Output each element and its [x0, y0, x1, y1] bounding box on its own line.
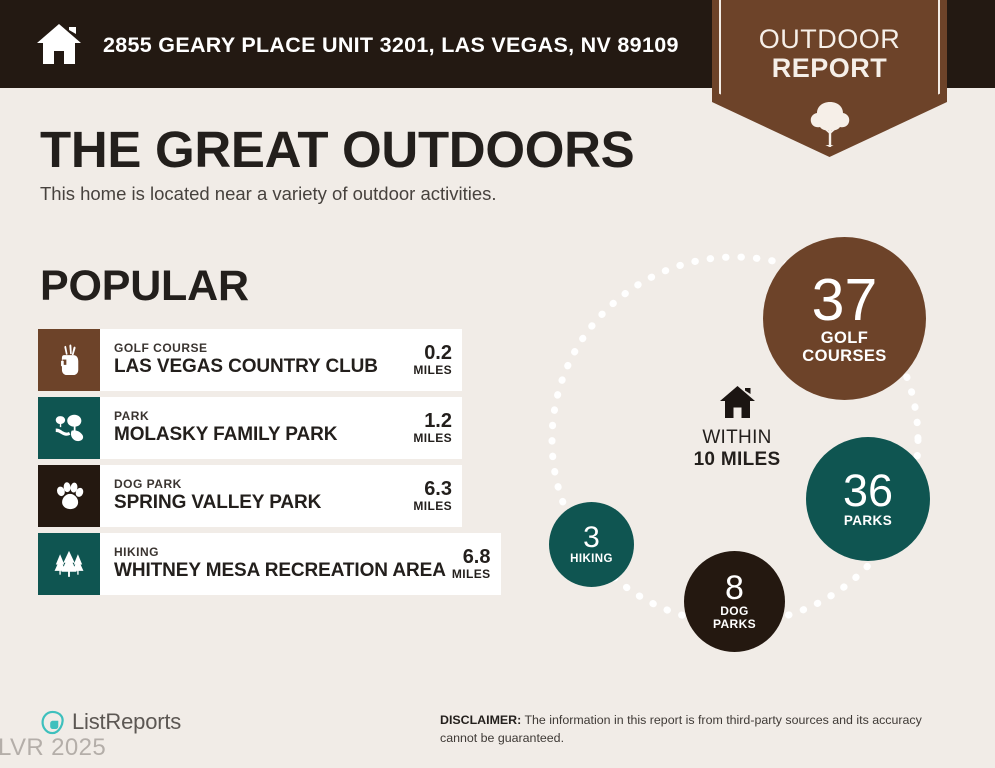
poi-distance-unit: MILES: [413, 364, 452, 377]
poi-distance-value: 6.3: [413, 479, 452, 500]
home-icon: [36, 22, 82, 66]
within-10-miles-bubble-chart: 37 GOLF COURSES 36 PARKS 8 DOG PARKS 3 H…: [520, 225, 960, 665]
poi-category: DOG PARK: [114, 478, 321, 492]
popular-section-heading: POPULAR: [40, 262, 249, 311]
poi-body: HIKING WHITNEY MESA RECREATION AREA 6.8 …: [100, 533, 501, 595]
poi-distance: 1.2 MILES: [407, 411, 452, 445]
list-item[interactable]: GOLF COURSE LAS VEGAS COUNTRY CLUB 0.2 M…: [38, 329, 462, 391]
poi-distance-unit: MILES: [413, 432, 452, 445]
pine-trees-icon: [52, 550, 86, 579]
poi-icon-tile: [38, 533, 100, 595]
paw-print-icon: [54, 481, 85, 512]
page-subtitle: This home is located near a variety of o…: [40, 183, 497, 205]
poi-distance: 6.3 MILES: [407, 479, 452, 513]
listreports-wordmark: ListReports: [72, 709, 181, 735]
listreports-hexagon-icon: [40, 710, 65, 735]
poi-body: GOLF COURSE LAS VEGAS COUNTRY CLUB 0.2 M…: [100, 329, 462, 391]
stat-bubble-dog-parks[interactable]: 8 DOG PARKS: [684, 551, 785, 652]
watermark: LVR 2025: [0, 734, 106, 762]
tree-icon: [807, 100, 853, 148]
poi-category: GOLF COURSE: [114, 342, 378, 356]
stat-value: 8: [725, 572, 744, 604]
poi-name: LAS VEGAS COUNTRY CLUB: [114, 356, 378, 378]
disclaimer-label: DISCLAIMER:: [440, 713, 521, 727]
center-label-line1: WITHIN: [637, 427, 837, 449]
poi-name: WHITNEY MESA RECREATION AREA: [114, 560, 446, 582]
stat-value: 3: [583, 524, 600, 553]
outdoor-report-badge: OUTDOOR REPORT: [712, 0, 947, 157]
poi-icon-tile: [38, 329, 100, 391]
poi-text: HIKING WHITNEY MESA RECREATION AREA: [114, 546, 446, 582]
poi-distance-unit: MILES: [413, 500, 452, 513]
poi-body: DOG PARK SPRING VALLEY PARK 6.3 MILES: [100, 465, 462, 527]
poi-distance-unit: MILES: [452, 568, 491, 581]
badge-title-line2: REPORT: [712, 55, 947, 82]
popular-list: GOLF COURSE LAS VEGAS COUNTRY CLUB 0.2 M…: [38, 329, 462, 601]
list-item[interactable]: HIKING WHITNEY MESA RECREATION AREA 6.8 …: [38, 533, 462, 595]
disclaimer: DISCLAIMER: The information in this repo…: [440, 712, 960, 748]
poi-distance-value: 1.2: [413, 411, 452, 432]
stat-value: 36: [843, 470, 893, 513]
poi-name: MOLASKY FAMILY PARK: [114, 424, 337, 446]
stat-label-line2: COURSES: [802, 348, 886, 366]
poi-icon-tile: [38, 465, 100, 527]
poi-category: PARK: [114, 410, 337, 424]
stat-label-line1: PARKS: [844, 514, 892, 529]
stat-value: 37: [812, 272, 878, 328]
poi-category: HIKING: [114, 546, 446, 560]
poi-body: PARK MOLASKY FAMILY PARK 1.2 MILES: [100, 397, 462, 459]
center-label-line2: 10 MILES: [637, 449, 837, 471]
poi-text: GOLF COURSE LAS VEGAS COUNTRY CLUB: [114, 342, 378, 378]
listreports-logo[interactable]: ListReports: [40, 709, 181, 735]
header-address: 2855 GEARY PLACE UNIT 3201, LAS VEGAS, N…: [103, 33, 679, 58]
diagram-center-label: WITHIN 10 MILES: [637, 385, 837, 471]
poi-icon-tile: [38, 397, 100, 459]
poi-distance-value: 6.8: [452, 547, 491, 568]
poi-distance-value: 0.2: [413, 343, 452, 364]
stat-bubble-hiking[interactable]: 3 HIKING: [549, 502, 634, 587]
poi-distance: 6.8 MILES: [446, 547, 491, 581]
home-icon: [719, 385, 756, 419]
poi-name: SPRING VALLEY PARK: [114, 492, 321, 514]
list-item[interactable]: PARK MOLASKY FAMILY PARK 1.2 MILES: [38, 397, 462, 459]
stat-label-line1: HIKING: [570, 553, 613, 565]
poi-text: PARK MOLASKY FAMILY PARK: [114, 410, 337, 446]
poi-text: DOG PARK SPRING VALLEY PARK: [114, 478, 321, 514]
golf-bag-icon: [54, 343, 84, 377]
stat-label-line1: GOLF: [821, 330, 868, 348]
stat-label-line2: PARKS: [713, 618, 756, 631]
poi-distance: 0.2 MILES: [407, 343, 452, 377]
page-title: THE GREAT OUTDOORS: [40, 120, 634, 179]
list-item[interactable]: DOG PARK SPRING VALLEY PARK 6.3 MILES: [38, 465, 462, 527]
park-tree-path-icon: [52, 413, 86, 443]
badge-title-line1: OUTDOOR: [712, 26, 947, 53]
stat-bubble-golf-courses[interactable]: 37 GOLF COURSES: [763, 237, 926, 400]
